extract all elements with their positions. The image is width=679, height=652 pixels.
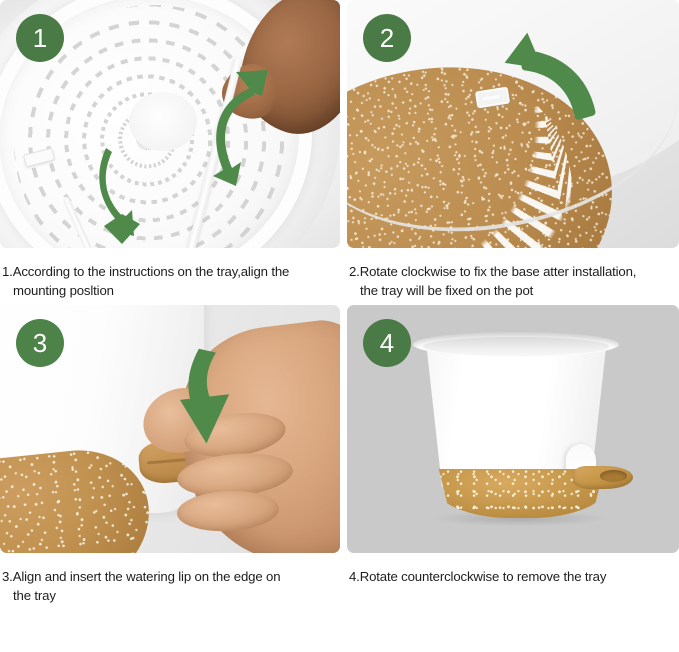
step-1-badge: 1 [16,14,64,62]
step-2-caption-line2: the tray will be fixed on the pot [349,281,675,300]
watering-spout [573,466,633,488]
step-2-caption-line1: 2.Rotate clockwise to fix the base atter… [349,264,636,279]
step-4-caption-line1: 4.Rotate counterclockwise to remove the … [349,569,606,584]
step-3-badge: 3 [16,319,64,367]
step-4-photo: 4 [347,305,679,553]
step-2-arrows [486,25,625,129]
step-1-caption-line2: mounting posltion [2,281,336,300]
step-1-caption: 1.According to the instructions on the t… [0,248,340,300]
step-3-caption-line1: 3.Align and insert the watering lip on t… [2,569,280,584]
step-1-photo: 1 [0,0,340,248]
step-4-caption: 4.Rotate counterclockwise to remove the … [347,553,679,586]
instruction-step-4: 4 4.Rotate counterclockwise to remove th… [347,305,679,605]
step-3-caption: 3.Align and insert the watering lip on t… [0,553,340,605]
instruction-step-1: 1 1.According to the instructions on the… [0,0,340,305]
instruction-sheet: 1 1.According to the instructions on the… [0,0,679,652]
step-4-badge: 4 [363,319,411,367]
step-3-photo: 3 [0,305,340,553]
instruction-grid: 1 1.According to the instructions on the… [0,0,679,605]
pot-rim-inner [423,337,609,356]
instruction-step-2: 2 2.Rotate clockwise to fix the base att… [347,0,679,305]
instruction-step-3: 3 3.Align and insert the watering lip on… [0,305,340,605]
step-3-arrows [170,345,245,449]
step-2-badge: 2 [363,14,411,62]
step-2-photo: 2 [347,0,679,248]
curved-arrow-up-right-icon [213,88,255,186]
step-1-caption-line1: 1.According to the instructions on the t… [2,264,289,279]
step-2-caption: 2.Rotate clockwise to fix the base atter… [347,248,679,300]
step-3-caption-line2: the tray [2,586,336,605]
